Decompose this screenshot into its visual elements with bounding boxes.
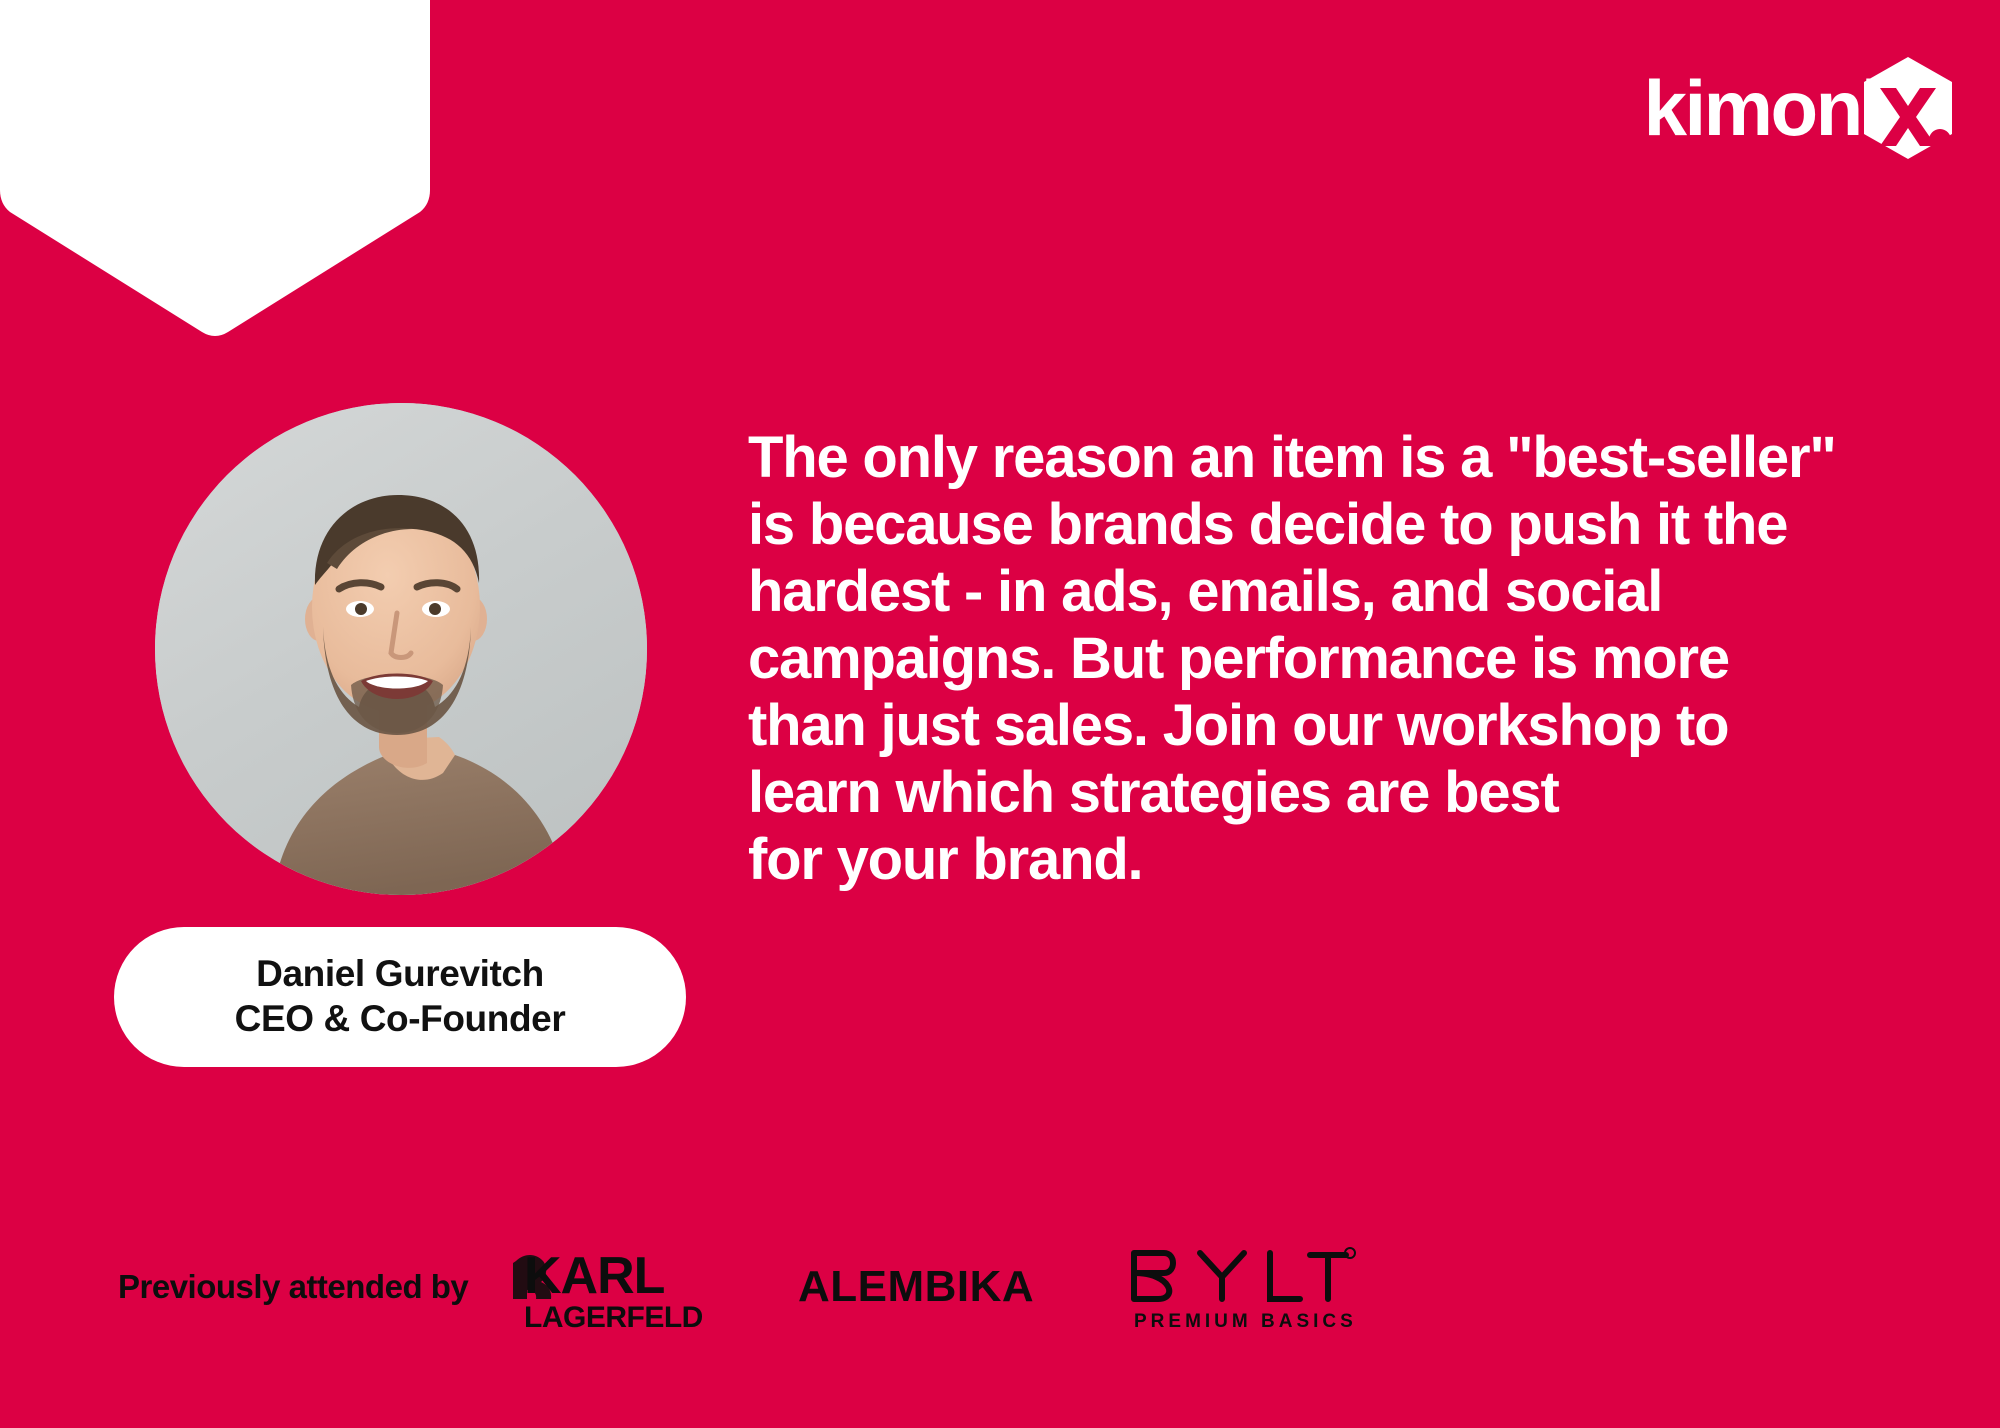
quote-text: The only reason an item is a "best-selle… (748, 425, 1948, 894)
brand-logo: kimoni (1644, 58, 1962, 158)
quote-line: for your brand. (748, 827, 1948, 894)
quote-line: hardest - in ads, emails, and social (748, 559, 1948, 626)
brand-logo-bylt: PREMIUM BASICS (1124, 1241, 1356, 1333)
speaker-avatar (155, 403, 647, 895)
speaker-name-badge: Daniel Gurevitch CEO & Co-Founder (114, 927, 686, 1067)
footer-brands: Previously attended by KARL LAGERFELD AL… (118, 1232, 1356, 1342)
svg-text:LAGERFELD: LAGERFELD (524, 1301, 703, 1333)
bookmark-ribbon-shape (0, 0, 430, 340)
quote-line: The only reason an item is a "best-selle… (748, 425, 1948, 492)
promo-card: kimoni (0, 0, 2000, 1428)
quote-line: learn which strategies are best (748, 760, 1948, 827)
svg-text:ALEMBIKA: ALEMBIKA (798, 1263, 1034, 1311)
brand-logo-karl-lagerfeld: KARL LAGERFELD (510, 1241, 718, 1333)
speaker-name: Daniel Gurevitch (256, 951, 544, 996)
quote-line: is because brands decide to push it the (748, 492, 1948, 559)
brand-wordmark: kimoni (1644, 69, 1880, 147)
brand-logo-alembika: ALEMBIKA (798, 1263, 1052, 1311)
svg-text:PREMIUM BASICS: PREMIUM BASICS (1134, 1311, 1356, 1332)
footer-label: Previously attended by (118, 1268, 468, 1306)
speaker-role: CEO & Co-Founder (235, 996, 566, 1041)
svg-text:KARL: KARL (524, 1247, 665, 1305)
quote-line: campaigns. But performance is more (748, 626, 1948, 693)
quote-line: than just sales. Join our workshop to (748, 693, 1948, 760)
